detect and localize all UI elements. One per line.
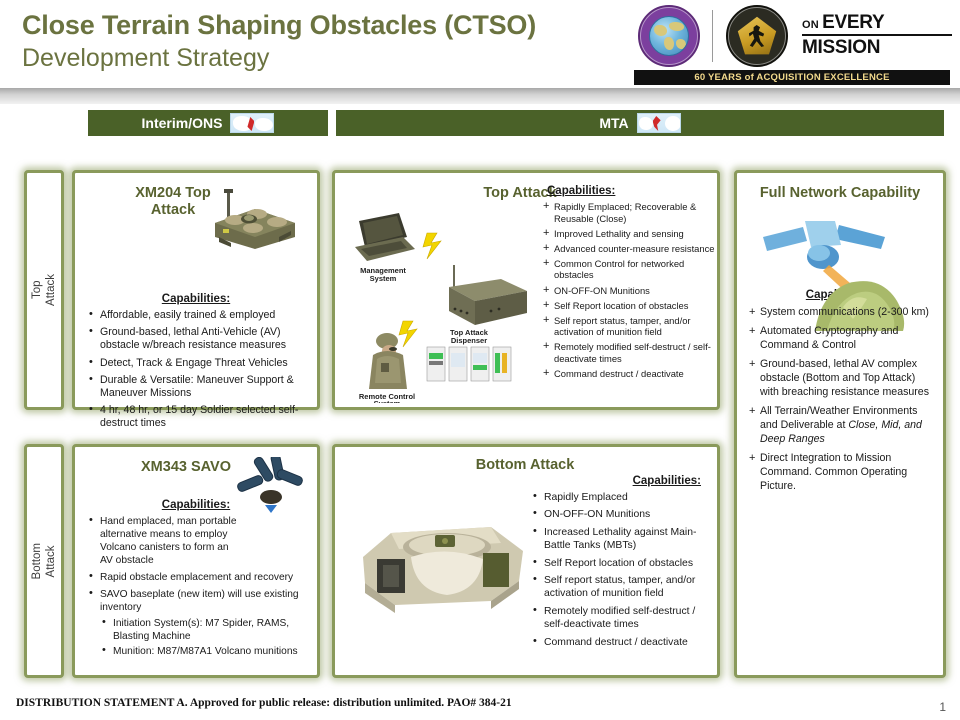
list-item: Self report status, tamper, and/or activ… <box>531 574 715 601</box>
list-item: Command destruct / deactivate <box>531 636 715 649</box>
on-every-mission-logo: ON EVERY MISSION <box>802 12 952 59</box>
panel-xm204-top-attack: XM204 Top Attack Capabilities: Affordabl… <box>72 170 320 410</box>
title-main: Close Terrain Shaping Obstacles (CTSO) <box>22 8 536 42</box>
side-label-bottom-attack-text: Bottom Attack <box>30 543 58 579</box>
dispenser-icon <box>449 265 527 325</box>
panel-bottom-attack-bullets: Rapidly Emplaced ON-OFF-ON Munitions Inc… <box>531 491 715 649</box>
soldier-icon <box>369 333 407 389</box>
management-system-icon <box>355 213 415 261</box>
panel-xm343-savo: XM343 SAVO Capabilities: Hand emplaced, … <box>72 444 320 678</box>
logo-divider <box>712 10 713 62</box>
list-item: 4 hr, 48 hr, or 15 day Soldier selected … <box>87 404 305 430</box>
list-item: Detect, Track & Engage Threat Vehicles <box>87 357 305 370</box>
side-label-bottom-attack: Bottom Attack <box>24 444 64 678</box>
panel-network-title: Full Network Capability <box>747 185 933 201</box>
panel-top-attack-bullets: Rapidly Emplaced; Recoverable & Reusable… <box>541 201 717 380</box>
list-item: Rapid obstacle emplacement and recovery <box>87 571 305 584</box>
list-item: Remotely modified self-destruct / self-d… <box>541 341 717 364</box>
list-item: ON-OFF-ON Munitions <box>531 508 715 521</box>
savo-volcano-canisters-icon <box>235 457 307 515</box>
map-icon-interim <box>230 113 274 133</box>
list-item: Initiation System(s): M7 Spider, RAMS, B… <box>100 617 305 643</box>
logo-rule <box>802 34 952 36</box>
list-item: Durable & Versatile: Maneuver Support & … <box>87 374 305 400</box>
list-item: Direct Integration to Mission Command. C… <box>747 451 933 493</box>
list-item: Self Report location of obstacles <box>541 300 717 312</box>
bottom-attack-munition-icon <box>351 495 531 625</box>
list-item: Affordable, easily trained & employed <box>87 309 305 322</box>
panel-top-attack: Top Attack Management System Top Attack … <box>332 170 720 410</box>
slide-header: Close Terrain Shaping Obstacles (CTSO) D… <box>0 0 960 88</box>
list-item: Remotely modified self-destruct / self-d… <box>531 605 715 632</box>
panel-network-bullets: System communications (2-300 km) Automat… <box>747 305 933 493</box>
handheld-screens-icon <box>427 347 511 381</box>
list-item: Ground-based, lethal AV complex obstacle… <box>747 357 933 399</box>
panel-bottom-attack-capabilities: Capabilities: Rapidly Emplaced ON-OFF-ON… <box>531 475 715 653</box>
panel-xm204-bullets: Affordable, easily trained & employed Gr… <box>87 309 305 431</box>
pm-close-combat-systems-seal-icon <box>726 5 788 67</box>
panel-full-network-capability: Full Network Capability Capabilities: Sy… <box>734 170 946 678</box>
list-item: Self Report location of obstacles <box>531 557 715 570</box>
acquisition-excellence-banner: 60 YEARS of ACQUISITION EXCELLENCE <box>634 70 950 85</box>
title-subtitle: Development Strategy <box>22 42 536 74</box>
side-label-top-attack: Top Attack <box>24 170 64 410</box>
banner-mta[interactable]: MTA <box>336 110 944 136</box>
panel-savo-bullets: Hand emplaced, man portable alternative … <box>87 515 305 658</box>
list-item: Rapidly Emplaced; Recoverable & Reusable… <box>541 201 717 224</box>
list-item: All Terrain/Weather Environments and Del… <box>747 404 933 446</box>
banner-mta-label: MTA <box>599 115 628 131</box>
list-item: Automated Cryptography and Command & Con… <box>747 324 933 352</box>
map-icon-mta <box>637 113 681 133</box>
list-item-text: SAVO baseplate (new item) will use exist… <box>100 589 299 613</box>
svg-text:Dispenser: Dispenser <box>451 336 487 345</box>
jpeo-armaments-seal-icon <box>638 5 700 67</box>
distribution-statement: DISTRIBUTION STATEMENT A. Approved for p… <box>16 697 512 709</box>
list-item: Improved Lethality and sensing <box>541 228 717 240</box>
list-item: Munition: M87/M87A1 Volcano munitions <box>100 645 305 658</box>
list-item: System communications (2-300 km) <box>747 305 933 319</box>
svg-text:System: System <box>370 274 397 283</box>
panel-top-attack-caps-head: Capabilities: <box>541 185 717 197</box>
page-number: 1 <box>939 700 946 714</box>
list-item: Hand emplaced, man portable alternative … <box>87 515 237 567</box>
list-item: ON-OFF-ON Munitions <box>541 285 717 297</box>
list-item: Command destruct / deactivate <box>541 368 717 380</box>
banner-interim-label: Interim/ONS <box>142 115 223 131</box>
list-item: Self report status, tamper, and/or activ… <box>541 315 717 338</box>
banner-interim-ons[interactable]: Interim/ONS <box>88 110 328 136</box>
panel-bottom-attack: Bottom Attack Capabilities: Rapidly Empl… <box>332 444 720 678</box>
svg-text:System: System <box>374 399 401 403</box>
xm204-top-attack-dispenser-icon <box>207 187 303 251</box>
list-item: Increased Lethality against Main-Battle … <box>531 526 715 553</box>
header-gradient-divider <box>0 88 960 104</box>
mission-text: MISSION <box>802 37 952 59</box>
panel-bottom-attack-title: Bottom Attack <box>425 457 625 473</box>
page-title: Close Terrain Shaping Obstacles (CTSO) D… <box>22 8 536 74</box>
logo-strip: ON EVERY MISSION 60 YEARS of ACQUISITION… <box>634 2 954 88</box>
side-label-top-attack-text: Top Attack <box>30 274 58 306</box>
list-item: Ground-based, lethal Anti-Vehicle (AV) o… <box>87 326 305 352</box>
list-item: SAVO baseplate (new item) will use exist… <box>87 588 305 658</box>
panel-top-attack-capabilities: Capabilities: Rapidly Emplaced; Recovera… <box>541 185 717 383</box>
top-attack-system-diagram: Management System Top Attack Dispenser <box>341 203 541 403</box>
on-text: ON <box>802 19 819 31</box>
panel-bottom-attack-caps-head: Capabilities: <box>531 475 715 487</box>
panel-savo-sub-bullets: Initiation System(s): M7 Spider, RAMS, B… <box>100 617 305 658</box>
every-text: EVERY <box>822 12 884 33</box>
list-item: Rapidly Emplaced <box>531 491 715 504</box>
list-item: Common Control for networked obstacles <box>541 258 717 281</box>
panel-xm204-caps-head: Capabilities: <box>87 293 305 305</box>
list-item: Advanced counter-measure resistance <box>541 243 717 255</box>
